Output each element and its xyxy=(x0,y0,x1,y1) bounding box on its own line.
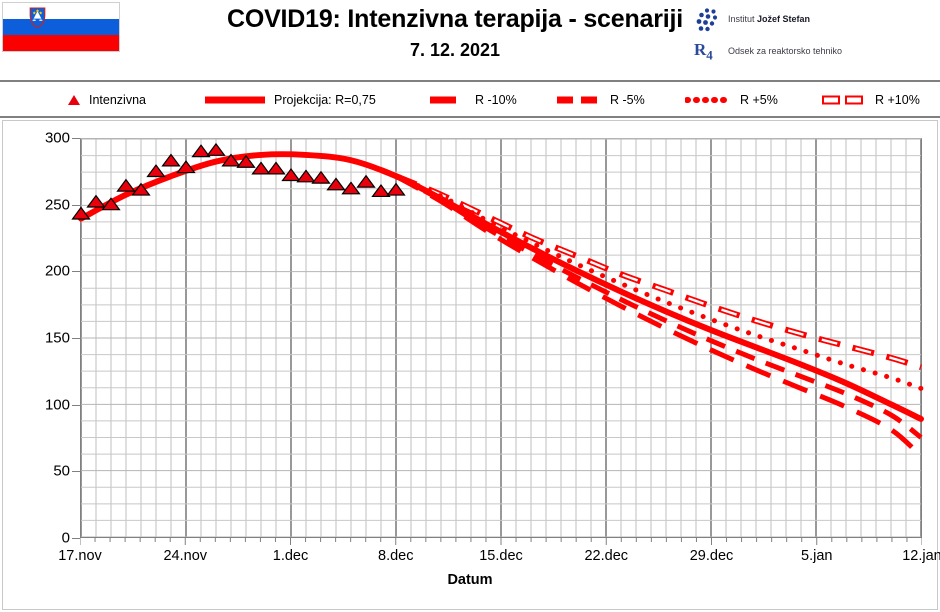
y-axis-tick-label: 300 xyxy=(45,130,70,147)
legend-label: R -10% xyxy=(475,93,517,107)
legend-label: R +5% xyxy=(740,93,778,107)
institution-logos: Institut Jožef Stefan R4 Odsek za reakto… xyxy=(686,6,896,72)
r4-mark-icon: R4 xyxy=(694,40,713,63)
y-axis-tick-mark xyxy=(72,405,80,406)
y-axis-tick-label: 150 xyxy=(45,330,70,347)
ijs-logo-row: Institut Jožef Stefan xyxy=(686,6,896,38)
y-axis-tick-label: 0 xyxy=(62,530,70,547)
legend-label: R +10% xyxy=(875,93,920,107)
r4-subscript: 4 xyxy=(706,47,713,62)
plot-series xyxy=(81,139,921,537)
legend-item-projekcija[interactable]: Projekcija: R=0,75 xyxy=(205,82,376,118)
y-axis-tick-mark xyxy=(72,271,80,272)
flag-band-white xyxy=(3,3,119,19)
y-axis-tick-mark xyxy=(72,138,80,139)
slovenia-flag xyxy=(2,2,120,52)
ijs-logo-label: Institut Jožef Stefan xyxy=(728,14,810,24)
flag-band-blue xyxy=(3,19,119,35)
x-axis-tick-label: 24.nov xyxy=(163,548,207,564)
y-axis-tick-mark xyxy=(72,471,80,472)
ijs-logo-label-plain: Institut xyxy=(728,14,757,24)
y-axis-tick-mark xyxy=(72,205,80,206)
ijs-logo-label-bold: Jožef Stefan xyxy=(757,14,810,24)
r4-logo-label: Odsek za reaktorsko tehniko xyxy=(728,46,842,56)
r4-letter: R xyxy=(694,40,706,59)
chart-title: COVID19: Intenzivna terapija - scenariji xyxy=(150,4,760,34)
x-axis-tick-label: 29.dec xyxy=(690,548,734,564)
y-axis-tick-label: 100 xyxy=(45,396,70,413)
flag-band-red xyxy=(3,35,119,51)
x-axis-title: Datum xyxy=(0,572,940,588)
legend-item-r-minus-10[interactable]: R -10% xyxy=(420,82,517,118)
legend-item-r-minus-5[interactable]: R -5% xyxy=(555,82,645,118)
title-block: COVID19: Intenzivna terapija - scenariji… xyxy=(150,4,760,62)
x-axis-tick-label: 15.dec xyxy=(479,548,523,564)
triangle-marker-icon xyxy=(68,95,80,105)
chart-legend: Intenzivna Projekcija: R=0,75 R -10% R -… xyxy=(0,82,940,118)
y-axis-tick-label: 250 xyxy=(45,196,70,213)
chart-header: COVID19: Intenzivna terapija - scenariji… xyxy=(0,0,940,82)
x-axis-tick-label: 1.dec xyxy=(273,548,308,564)
plot-area xyxy=(80,138,922,538)
legend-label: Intenzivna xyxy=(89,93,146,107)
chart-date: 7. 12. 2021 xyxy=(150,38,760,62)
y-axis-tick-mark xyxy=(72,538,80,539)
x-axis-tick-label: 12.jan xyxy=(902,548,940,564)
x-axis-tick-marks xyxy=(80,538,922,548)
x-axis-tick-label: 5.jan xyxy=(801,548,832,564)
medium-dash-swatch-icon xyxy=(555,94,601,106)
legend-item-intenzivna[interactable]: Intenzivna xyxy=(68,82,146,118)
y-axis-tick-label: 200 xyxy=(45,263,70,280)
legend-label: Projekcija: R=0,75 xyxy=(274,93,376,107)
legend-label: R -5% xyxy=(610,93,645,107)
ijs-dots-icon xyxy=(696,8,722,34)
legend-item-r-plus-5[interactable]: R +5% xyxy=(685,82,778,118)
r4-logo-row: R4 Odsek za reaktorsko tehniko xyxy=(686,38,896,70)
x-axis-tick-label: 22.dec xyxy=(584,548,628,564)
y-axis: 050100150200250300 xyxy=(0,138,80,538)
long-dash-swatch-icon xyxy=(420,94,466,106)
chart-page: COVID19: Intenzivna terapija - scenariji… xyxy=(0,0,940,612)
solid-line-swatch-icon xyxy=(205,94,265,106)
y-axis-tick-mark xyxy=(72,338,80,339)
legend-item-r-plus-10[interactable]: R +10% xyxy=(820,82,920,118)
x-axis-tick-label: 8.dec xyxy=(378,548,413,564)
hollow-dash-swatch-icon xyxy=(820,94,866,106)
x-axis-tick-label: 17.nov xyxy=(58,548,102,564)
slovenia-coat-of-arms-icon xyxy=(29,7,46,28)
y-axis-tick-label: 50 xyxy=(53,463,70,480)
dotted-swatch-icon xyxy=(685,94,731,106)
